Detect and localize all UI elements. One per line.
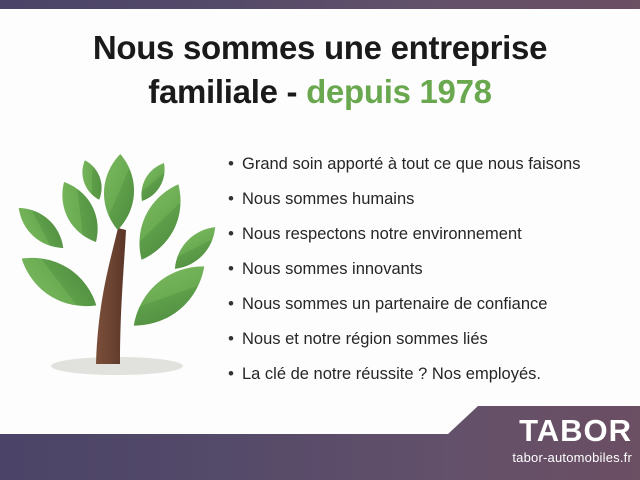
bullet-marker: • [228, 327, 242, 351]
headline-line-1: Nous sommes une entreprise [93, 29, 547, 66]
list-item-label: Grand soin apporté à tout ce que nous fa… [242, 152, 580, 176]
bullet-marker: • [228, 362, 242, 386]
bullet-marker: • [228, 187, 242, 211]
list-item-label: Nous sommes innovants [242, 257, 423, 281]
brand-logo-wordmark: TABOR [470, 415, 632, 446]
tree-illustration [14, 150, 224, 390]
list-item: • Nous respectons notre environnement [228, 222, 628, 257]
list-item: • Nous et notre région sommes liés [228, 327, 628, 362]
benefits-list: • Grand soin apporté à tout ce que nous … [228, 152, 628, 397]
bullet-marker: • [228, 257, 242, 281]
slide-canvas: Nous sommes une entreprise familiale - d… [0, 0, 640, 480]
bullet-marker: • [228, 222, 242, 246]
list-item: • Grand soin apporté à tout ce que nous … [228, 152, 628, 187]
headline-line-2: familiale - [148, 73, 297, 110]
bullet-marker: • [228, 152, 242, 176]
list-item-label: Nous respectons notre environnement [242, 222, 522, 246]
brand-logo-tagline: tabor-automobiles.fr [460, 450, 632, 465]
page-title: Nous sommes une entreprise familiale - d… [0, 26, 640, 114]
tree-trunk [96, 228, 126, 364]
list-item: • La clé de notre réussite ? Nos employé… [228, 362, 628, 397]
top-accent-bar [0, 0, 640, 9]
list-item-label: La clé de notre réussite ? Nos employés. [242, 362, 541, 386]
list-item-label: Nous sommes un partenaire de confiance [242, 292, 547, 316]
headline-accent: depuis 1978 [306, 73, 492, 110]
list-item-label: Nous sommes humains [242, 187, 414, 211]
list-item: • Nous sommes humains [228, 187, 628, 222]
list-item-label: Nous et notre région sommes liés [242, 327, 488, 351]
list-item: • Nous sommes innovants [228, 257, 628, 292]
bullet-marker: • [228, 292, 242, 316]
list-item: • Nous sommes un partenaire de confiance [228, 292, 628, 327]
